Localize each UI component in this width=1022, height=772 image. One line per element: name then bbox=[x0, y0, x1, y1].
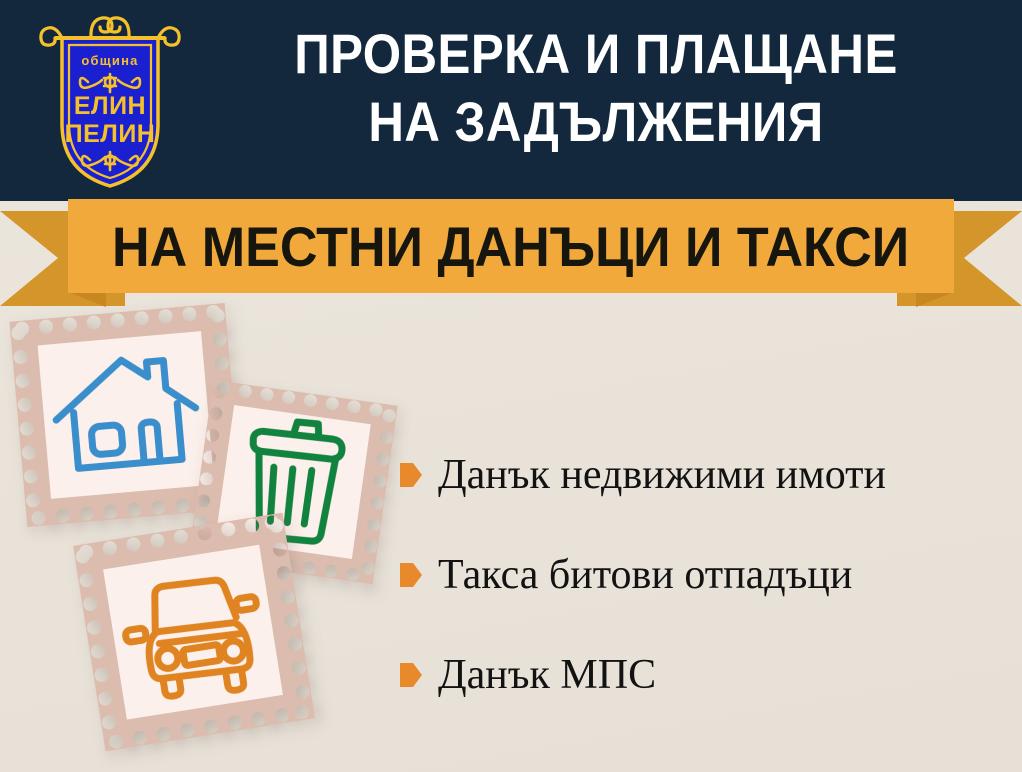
list-item-label: Данък недвижими имоти bbox=[438, 452, 886, 498]
logo-text-elin: ЕЛИН bbox=[74, 92, 146, 120]
stamp-vehicle bbox=[73, 513, 315, 752]
arrow-bullet-icon bbox=[400, 663, 422, 687]
page-title: ПРОВЕРКА И ПЛАЩАНЕ НА ЗАДЪЛЖЕНИЯ bbox=[235, 20, 957, 156]
ribbon-label-text: НА МЕСТНИ ДАНЪЦИ И ТАКСИ bbox=[112, 214, 909, 279]
page-title-line-2: НА ЗАДЪЛЖЕНИЯ bbox=[235, 88, 957, 156]
logo-text-obshtina: община bbox=[81, 53, 138, 68]
municipality-logo: община ЕЛИН ПЕЛИН bbox=[36, 12, 184, 192]
stamp-vehicle-graphic bbox=[73, 513, 315, 752]
list-item-label: Такса битови отпадъци bbox=[438, 552, 852, 598]
page-title-line-1: ПРОВЕРКА И ПЛАЩАНЕ bbox=[235, 20, 957, 88]
list-item[interactable]: Данък недвижими имоти bbox=[400, 425, 1010, 525]
list-item[interactable]: Данък МПС bbox=[400, 625, 1010, 725]
logo-text-pelin: ПЕЛИН bbox=[65, 120, 156, 148]
ribbon-banner: НА МЕСТНИ ДАНЪЦИ И ТАКСИ bbox=[0, 199, 1022, 309]
arrow-bullet-icon bbox=[400, 563, 422, 587]
coat-of-arms-icon: община ЕЛИН ПЕЛИН bbox=[36, 12, 184, 192]
ribbon-label: НА МЕСТНИ ДАНЪЦИ И ТАКСИ bbox=[68, 199, 954, 293]
list-item[interactable]: Такса битови отпадъци bbox=[400, 525, 1010, 625]
arrow-bullet-icon bbox=[400, 463, 422, 487]
services-list: Данък недвижими имоти Такса битови отпад… bbox=[400, 425, 1010, 725]
list-item-label: Данък МПС bbox=[438, 652, 656, 698]
poster-canvas: ПРОВЕРКА И ПЛАЩАНЕ НА ЗАДЪЛЖЕНИЯ община bbox=[0, 0, 1022, 772]
